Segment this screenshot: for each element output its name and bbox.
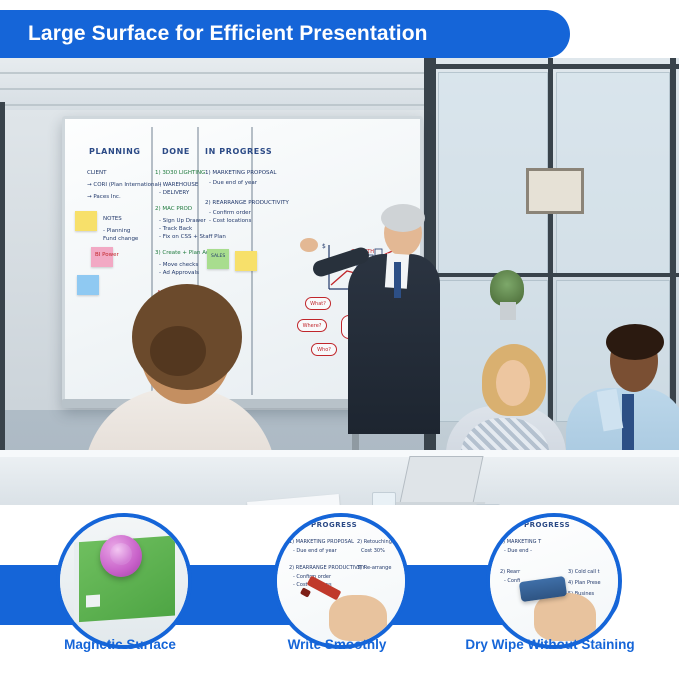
done-note-1: 1) 3D30 LIGHTING xyxy=(155,169,205,177)
closeup-line-3-6: 4) Plan Prese xyxy=(568,580,601,588)
svg-text:$: $ xyxy=(322,243,326,250)
closeup-line-2-1: 1) MARKETING PROPOSAL xyxy=(289,539,354,547)
planning-note-paces: → Paces Inc. xyxy=(87,193,121,201)
closeup-line-3-4: - Confi xyxy=(504,578,520,586)
closeup-line-3-3: 2) Rearr xyxy=(500,569,520,577)
board-column-header-in-progress: IN PROGRESS xyxy=(205,147,272,156)
white-chip xyxy=(86,595,100,608)
product-infographic: Large Surface for Efficient Presentation xyxy=(0,0,679,679)
hand xyxy=(534,593,596,641)
feature-caption-magnetic-surface: Magnetic Surface xyxy=(10,637,230,652)
feature-strip: Magnetic Surface PROGRESS 1) MARKETING P… xyxy=(0,505,679,679)
table-edge-highlight xyxy=(0,450,679,457)
done-note-3: 3) Create + Plan Ad xyxy=(155,249,209,257)
closeup-line-3-1: 1) MARKETING T xyxy=(500,539,541,547)
planning-note-cori: → CORI (Plan International) xyxy=(87,181,162,189)
conference-table xyxy=(0,450,679,505)
feature-caption-write-smoothly: Write Smoothly xyxy=(227,637,447,652)
done-note-2: 2) MAC PROD xyxy=(155,205,192,213)
progress-note-2: 2) REARRANGE PRODUCTIVITY xyxy=(205,199,289,207)
planning-note-bipower: BI Power xyxy=(95,251,119,259)
progress-note-2-sub: - Confirm order - Cost locations xyxy=(209,209,251,225)
done-note-3-sub: - Move checks - Ad Approvals xyxy=(159,261,199,277)
feature-caption-dry-wipe: Dry Wipe Without Staining xyxy=(440,637,660,652)
board-column-header-planning: PLANNING xyxy=(89,147,141,156)
planning-note-fund: - Planning Fund change xyxy=(103,227,138,243)
closeup-line-2-2: - Due end of year xyxy=(293,548,337,556)
water-glass xyxy=(372,492,396,505)
feature-image-dry-wipe: PROGRESS 1) MARKETING T - Due end - 2) R… xyxy=(486,513,622,649)
feature-image-write-smoothly: PROGRESS 1) MARKETING PROPOSAL - Due end… xyxy=(273,513,409,649)
mindmap-node: What? xyxy=(305,297,331,310)
magnet-inner-icon xyxy=(110,543,132,565)
laptop xyxy=(398,456,483,505)
closeup-line-2-3: 2) REARRANGE PRODUCTIVITY xyxy=(289,565,365,573)
closeup-line-3-2: - Due end - xyxy=(504,548,532,556)
board-column-header-done: DONE xyxy=(162,147,190,156)
planning-note-client: CLIENT xyxy=(87,169,106,177)
banner: Large Surface for Efficient Presentation xyxy=(0,10,570,58)
sticky-note xyxy=(77,275,99,295)
progress-note-sales: SALES xyxy=(211,253,225,261)
closeup-line-2-7: Cost 30% xyxy=(361,548,385,556)
closeup-line-3-5: 3) Cold call t xyxy=(568,569,600,577)
main-photo: PLANNING DONE IN PROGRESS CLIENT → CORI … xyxy=(0,58,679,505)
done-note-1-sub: - WAREHOUSE - DELIVERY xyxy=(159,181,198,197)
sticky-note xyxy=(235,251,257,271)
planning-note-notes: NOTES xyxy=(103,215,122,223)
banner-title: Large Surface for Efficient Presentation xyxy=(0,22,428,46)
closeup-title-3: PROGRESS xyxy=(524,521,570,529)
closeup-line-2-6: 2) Retouching xyxy=(357,539,392,547)
sticky-note xyxy=(75,211,97,231)
progress-note-1-sub: - Due end of year xyxy=(209,179,257,187)
hand xyxy=(329,595,387,641)
closeup-line-2-8: 3) Re-arrange xyxy=(357,565,391,573)
feature-image-magnetic-surface xyxy=(56,513,192,649)
mindmap-node: Where? xyxy=(297,319,327,332)
mindmap-node: Who? xyxy=(311,343,337,356)
progress-note-1: 1) MARKETING PROPOSAL xyxy=(205,169,276,177)
left-mullion xyxy=(0,102,5,462)
closeup-title-2: PROGRESS xyxy=(311,521,357,529)
